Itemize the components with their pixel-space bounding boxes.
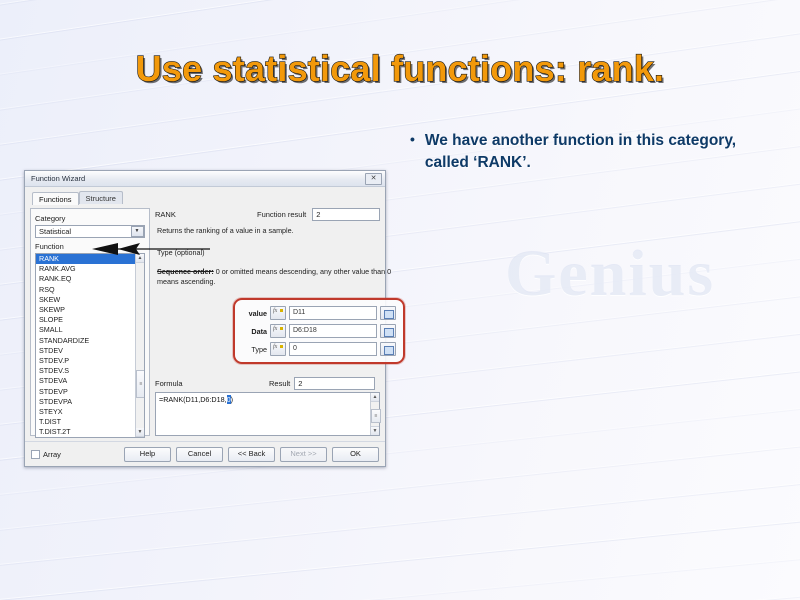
dialog-button-back[interactable]: << Back xyxy=(228,447,275,462)
argument-input[interactable]: D11 xyxy=(289,306,377,320)
list-item: • We have another function in this categ… xyxy=(410,130,740,175)
dialog-footer: Array HelpCancel<< BackNext >>OK xyxy=(25,441,385,467)
chevron-down-icon[interactable]: ▼ xyxy=(131,226,144,238)
function-fx-icon[interactable] xyxy=(270,342,286,356)
dialog-titlebar[interactable]: Function Wizard ✕ xyxy=(25,171,385,187)
function-list-item[interactable]: STDEVPA xyxy=(36,397,135,407)
formula-suffix: ) xyxy=(231,395,233,404)
function-header: RANK Function result 2 xyxy=(155,208,380,221)
argument-row: DataD6:D18 xyxy=(242,324,396,338)
function-wizard-dialog: Function Wizard ✕ Functions Structure Ca… xyxy=(24,170,386,467)
dialog-button-ok[interactable]: OK xyxy=(332,447,379,462)
tab-structure[interactable]: Structure xyxy=(79,191,123,204)
function-list-item[interactable]: SKEW xyxy=(36,295,135,305)
function-result-label: Function result xyxy=(257,210,306,219)
formula-scrollbar[interactable]: ▲ ≡ ▼ xyxy=(370,393,379,435)
function-list-item[interactable]: STANDARDIZE xyxy=(36,336,135,346)
function-list-item[interactable]: STDEV xyxy=(36,346,135,356)
function-list-item[interactable]: SMALL xyxy=(36,325,135,335)
selected-function-name: RANK xyxy=(155,210,251,219)
scrollbar-thumb[interactable]: ≡ xyxy=(371,409,381,423)
formula-header: Formula Result 2 xyxy=(155,377,380,390)
function-list[interactable]: RANKRANK.AVGRANK.EQRSQSKEWSKEWPSLOPESMAL… xyxy=(36,254,135,437)
bullet-list: • We have another function in this categ… xyxy=(410,130,740,175)
scroll-up-icon[interactable]: ▲ xyxy=(136,254,144,263)
scrollbar-thumb[interactable]: ≡ xyxy=(136,370,145,398)
tab-functions[interactable]: Functions xyxy=(32,192,79,205)
function-list-item[interactable]: RANK.EQ xyxy=(36,274,135,284)
function-list-item[interactable]: T.DIST xyxy=(36,417,135,427)
function-list-item[interactable]: RSQ xyxy=(36,285,135,295)
result-value: 2 xyxy=(294,377,375,390)
function-details-pane: RANK Function result 2 Returns the ranki… xyxy=(155,208,380,436)
function-list-container: RANKRANK.AVGRANK.EQRSQSKEWSKEWPSLOPESMAL… xyxy=(35,253,145,438)
dialog-button-help[interactable]: Help xyxy=(124,447,171,462)
formula-text[interactable]: =RANK(D11,D6:D18,0) xyxy=(156,393,370,435)
dialog-title: Function Wizard xyxy=(31,174,85,183)
array-checkbox[interactable]: Array xyxy=(31,450,61,459)
argument-strike-label: Sequence order: xyxy=(157,267,214,276)
function-list-scrollbar[interactable]: ▲ ≡ ▼ xyxy=(135,254,144,437)
scroll-down-icon[interactable]: ▼ xyxy=(136,428,144,437)
function-list-item[interactable]: STDEV.P xyxy=(36,356,135,366)
arguments-panel: valueD11DataD6:D18Type0 xyxy=(233,298,405,364)
argument-label: Data xyxy=(242,327,267,336)
formula-label: Formula xyxy=(155,379,265,388)
checkbox-box[interactable] xyxy=(31,450,40,459)
formula-area: Formula Result 2 =RANK(D11,D6:D18,0) ▲ ≡… xyxy=(155,377,380,436)
bullet-text: We have another function in this categor… xyxy=(425,130,740,175)
argument-label: Type xyxy=(242,345,267,354)
function-list-item[interactable]: RANK.AVG xyxy=(36,264,135,274)
function-list-item[interactable]: T.DIST.2T xyxy=(36,427,135,437)
argument-row: valueD11 xyxy=(242,306,396,320)
category-value: Statistical xyxy=(39,227,71,236)
function-fx-icon[interactable] xyxy=(270,324,286,338)
function-list-item[interactable]: STEYX xyxy=(36,407,135,417)
function-list-item[interactable]: STDEVP xyxy=(36,387,135,397)
close-icon[interactable]: ✕ xyxy=(365,173,382,185)
function-list-item[interactable]: SLOPE xyxy=(36,315,135,325)
argument-input[interactable]: 0 xyxy=(289,342,377,356)
page-title: Use statistical functions: rank. xyxy=(0,48,800,90)
category-dropdown[interactable]: Statistical ▼ xyxy=(35,225,145,238)
function-label: Function xyxy=(35,242,145,251)
argument-label: value xyxy=(242,309,267,318)
result-label: Result xyxy=(269,379,290,388)
scroll-up-icon[interactable]: ▲ xyxy=(371,393,379,402)
scroll-down-icon[interactable]: ▼ xyxy=(371,426,379,435)
function-result-value: 2 xyxy=(312,208,380,221)
dialog-button-cancel[interactable]: Cancel xyxy=(176,447,223,462)
argument-input[interactable]: D6:D18 xyxy=(289,324,377,338)
argument-row: Type0 xyxy=(242,342,396,356)
footer-button-group: HelpCancel<< BackNext >>OK xyxy=(119,447,379,462)
category-label: Category xyxy=(35,214,145,223)
bullet-marker: • xyxy=(410,130,415,148)
range-picker-icon[interactable] xyxy=(380,342,396,356)
functions-pane: Category Statistical ▼ Function RANKRANK… xyxy=(30,208,150,436)
formula-prefix: =RANK(D11,D6:D18, xyxy=(159,395,227,404)
tab-bar: Functions Structure xyxy=(32,191,380,204)
function-description: Returns the ranking of a value in a samp… xyxy=(157,226,380,236)
formula-input[interactable]: =RANK(D11,D6:D18,0) ▲ ≡ ▼ xyxy=(155,392,380,436)
argument-title: Type (optional) xyxy=(157,248,380,258)
function-list-item[interactable]: STDEVA xyxy=(36,376,135,386)
function-list-item[interactable]: SKEWP xyxy=(36,305,135,315)
range-picker-icon[interactable] xyxy=(380,324,396,338)
function-fx-icon[interactable] xyxy=(270,306,286,320)
array-label: Array xyxy=(43,450,61,459)
range-picker-icon[interactable] xyxy=(380,306,396,320)
function-list-item[interactable]: RANK xyxy=(36,254,135,264)
function-list-item[interactable]: STDEV.S xyxy=(36,366,135,376)
dialog-button-next: Next >> xyxy=(280,447,327,462)
dialog-body: Functions Structure Category Statistical… xyxy=(25,187,385,467)
